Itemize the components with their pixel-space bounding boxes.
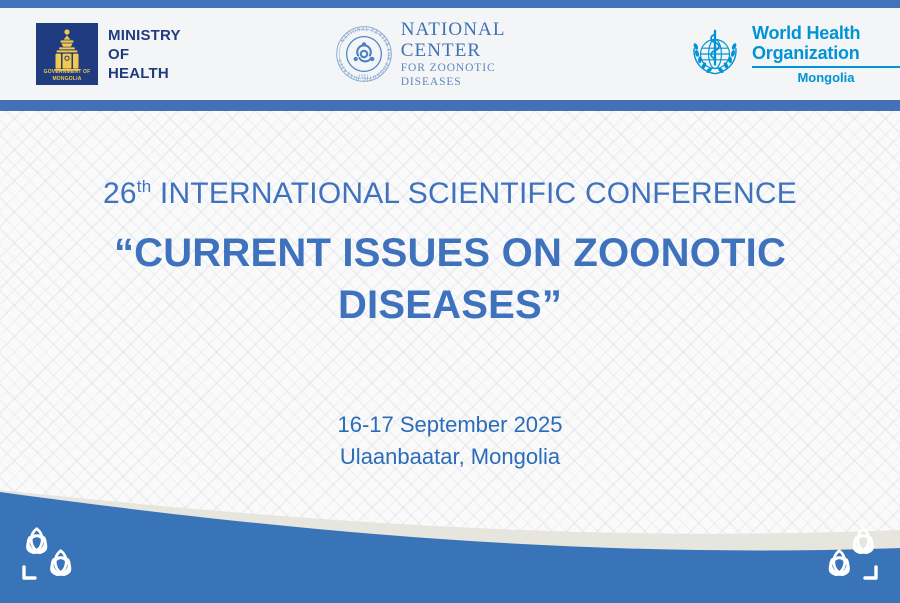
header-separator-bar: [0, 100, 900, 111]
who-label-line1: World Health: [752, 23, 900, 43]
zoonotic-center-seal-icon: NATIONAL CENTER FOR ZOONOTIC DISEASES: [333, 23, 395, 85]
top-accent-bar: [0, 0, 900, 8]
emblem-caption-line1: GOVERNMENT OF: [36, 69, 98, 76]
zoonotic-center-label-line1: NATIONAL CENTER: [401, 19, 556, 61]
who-divider: [752, 66, 900, 68]
ministry-label-line2: OF HEALTH: [108, 45, 181, 83]
logo-row: GOVERNMENT OF MONGOLIA MINISTRY OF HEALT…: [0, 8, 900, 100]
logo-ministry-of-health: GOVERNMENT OF MONGOLIA MINISTRY OF HEALT…: [36, 23, 181, 85]
conference-line-text: INTERNATIONAL SCIENTIFIC CONFERENCE: [151, 177, 797, 210]
ministry-of-health-label: MINISTRY OF HEALTH: [108, 26, 181, 83]
emblem-caption: GOVERNMENT OF MONGOLIA: [36, 69, 98, 82]
who-emblem-icon: [686, 25, 744, 83]
triquetra-knot-icon-left: [16, 523, 88, 585]
who-label: World Health Organization Mongolia: [752, 23, 900, 85]
conference-edition-line: 26th INTERNATIONAL SCIENTIFIC CONFERENCE: [0, 175, 900, 213]
logo-world-health-organization: World Health Organization Mongolia: [686, 23, 900, 85]
logo-national-center-zoonotic-diseases: NATIONAL CENTER FOR ZOONOTIC DISEASES: [333, 19, 556, 89]
ministry-label-line1: MINISTRY: [108, 26, 181, 45]
svg-text:1951: 1951: [358, 74, 369, 79]
mongolia-state-emblem-icon: GOVERNMENT OF MONGOLIA: [36, 23, 98, 85]
conference-number-suffix: th: [137, 177, 152, 196]
zoonotic-center-label: NATIONAL CENTER FOR ZOONOTIC DISEASES: [401, 19, 556, 89]
conference-number: 26: [103, 177, 137, 210]
page-title: “CURRENT ISSUES ON ZOONOTIC DISEASES”: [0, 227, 900, 331]
who-country-label: Mongolia: [752, 70, 900, 85]
conference-dates: 16-17 September 2025: [0, 409, 900, 441]
conference-title-slide: GOVERNMENT OF MONGOLIA MINISTRY OF HEALT…: [0, 0, 900, 603]
footer-wave-decoration: [0, 468, 900, 603]
emblem-caption-line2: MONGOLIA: [36, 76, 98, 83]
triquetra-knot-icon-right: [812, 523, 884, 585]
who-label-line2: Organization: [752, 43, 900, 63]
svg-text:NATIONAL CENTER FOR ZOONOTIC D: NATIONAL CENTER FOR ZOONOTIC DISEASES: [338, 27, 391, 80]
zoonotic-center-label-line2: FOR ZOONOTIC DISEASES: [401, 61, 556, 89]
slide-body: 26th INTERNATIONAL SCIENTIFIC CONFERENCE…: [0, 111, 900, 473]
